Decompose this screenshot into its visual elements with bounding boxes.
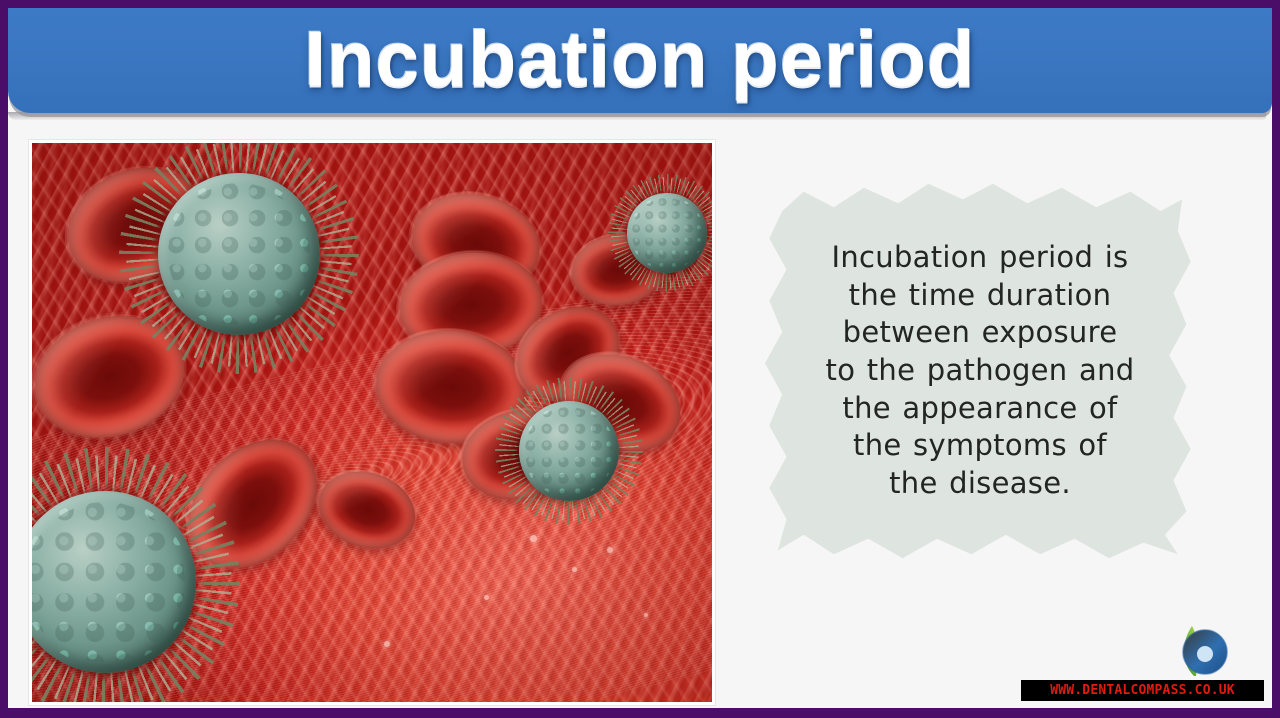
virus-particle (32, 491, 196, 673)
definition-line: to the pathogen and (787, 352, 1173, 390)
title-banner: Incubation period (8, 8, 1272, 113)
virus-surface-shadow (168, 183, 311, 326)
definition-line: the disease. (787, 465, 1173, 503)
definition-line: the symptoms of (787, 428, 1173, 466)
definition-card: Incubation period is the time duration b… (765, 176, 1195, 566)
virus-particle (627, 193, 707, 273)
blood-virus-photo (32, 143, 712, 702)
slide-frame: Incubation period (0, 0, 1280, 718)
definition-line: the time duration (787, 277, 1173, 315)
virus-surface-shadow (525, 407, 613, 495)
dentalcompass-logo-icon (1172, 620, 1228, 678)
photo-frame (29, 140, 715, 705)
definition-line: between exposure (787, 314, 1173, 352)
watermark: WWW.DENTALCOMPASS.CO.UK (1021, 620, 1264, 704)
page-title: Incubation period (8, 13, 1272, 104)
definition-line: the appearance of (787, 390, 1173, 428)
virus-surface-shadow (632, 198, 702, 268)
watermark-bar: WWW.DENTALCOMPASS.CO.UK (1021, 680, 1264, 701)
watermark-url: WWW.DENTALCOMPASS.CO.UK (1050, 683, 1235, 698)
definition-line: Incubation period is (787, 239, 1173, 277)
virus-particle (158, 173, 320, 335)
banner-drop-shadow (8, 112, 1266, 120)
virus-particle (519, 401, 619, 501)
definition-text: Incubation period is the time duration b… (765, 239, 1195, 503)
slide-canvas: Incubation period (8, 8, 1272, 708)
